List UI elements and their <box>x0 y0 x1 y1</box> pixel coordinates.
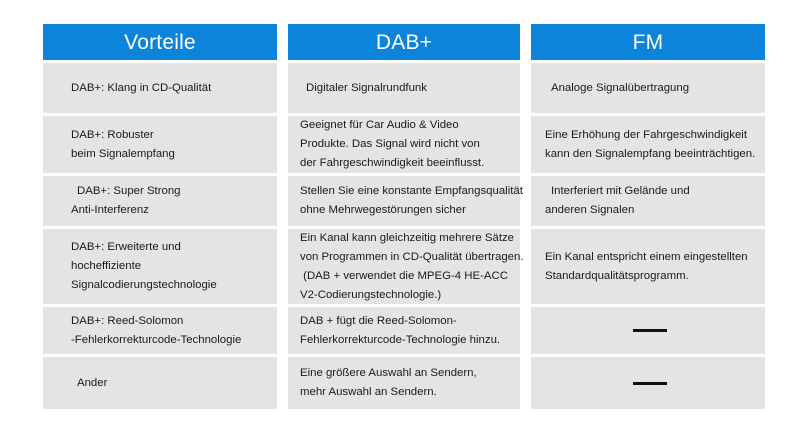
dash-placeholder-icon <box>633 382 667 385</box>
table-cell: Geeignet für Car Audio & Video Produkte.… <box>288 116 520 173</box>
cell-line: V2-Codierungstechnologie.) <box>300 286 510 305</box>
table-cell: DAB+: Klang in CD-Qualität <box>43 63 277 113</box>
cell-line: Analoge Signalübertragung <box>545 79 755 98</box>
cell-line: Ander <box>71 374 263 393</box>
cell-line: Eine größere Auswahl an Sendern, <box>300 364 510 383</box>
table-cell: DAB+: Robuster beim Signalempfang <box>43 116 277 173</box>
table-cell: DAB+: Erweiterte und hocheffiziente Sign… <box>43 229 277 304</box>
cell-line: (DAB + verwendet die MPEG-4 HE-ACC <box>300 267 510 286</box>
cell-line: DAB + fügt die Reed-Solomon- <box>300 312 510 331</box>
column-dab: DAB+ Digitaler Signalrundfunk Geeignet f… <box>288 24 520 364</box>
table-cell: Analoge Signalübertragung <box>531 63 765 113</box>
cell-line: Interferiert mit Gelände und <box>545 182 755 201</box>
column-header-advantages: Vorteile <box>43 24 277 60</box>
cell-line: Produkte. Das Signal wird nicht von <box>300 135 510 154</box>
table-cell: DAB+: Reed-Solomon -Fehlerkorrekturcode-… <box>43 307 277 354</box>
cell-line: beim Signalempfang <box>71 145 263 164</box>
column-header-dab: DAB+ <box>288 24 520 60</box>
table-cell: Eine größere Auswahl an Sendern, mehr Au… <box>288 357 520 409</box>
cell-line: Eine Erhöhung der Fahrgeschwindigkeit <box>545 126 755 145</box>
cell-line: Standardqualitätsprogramm. <box>545 267 755 286</box>
table-cell: Ander <box>43 357 277 409</box>
table-cell: Eine Erhöhung der Fahrgeschwindigkeit ka… <box>531 116 765 173</box>
cell-line: -Fehlerkorrekturcode-Technologie <box>71 331 263 350</box>
table-cell: DAB+: Super Strong Anti-Interferenz <box>43 176 277 226</box>
cell-line: Ein Kanal entspricht einem eingestellten <box>545 248 755 267</box>
cell-line: Anti-Interferenz <box>71 201 263 220</box>
table-cell-empty <box>531 307 765 354</box>
column-fm: FM Analoge Signalübertragung Eine Erhöhu… <box>531 24 765 364</box>
table-cell: Interferiert mit Gelände und anderen Sig… <box>531 176 765 226</box>
table-cell: DAB + fügt die Reed-Solomon- Fehlerkorre… <box>288 307 520 354</box>
cell-line: mehr Auswahl an Sendern. <box>300 383 510 402</box>
cell-line: von Programmen in CD-Qualität übertragen… <box>300 248 510 267</box>
cell-line: DAB+: Klang in CD-Qualität <box>71 79 263 98</box>
column-header-fm: FM <box>531 24 765 60</box>
cell-line: Signalcodierungstechnologie <box>71 276 263 295</box>
cell-line: Stellen Sie eine konstante Empfangsquali… <box>300 182 510 201</box>
table-cell: Ein Kanal kann gleichzeitig mehrere Sätz… <box>288 229 520 304</box>
cell-line: DAB+: Super Strong <box>71 182 263 201</box>
cell-line: anderen Signalen <box>545 201 755 220</box>
comparison-table: Vorteile DAB+: Klang in CD-Qualität DAB+… <box>43 24 765 364</box>
cell-line: DAB+: Erweiterte und <box>71 238 263 257</box>
table-cell-empty <box>531 357 765 409</box>
cell-line: Ein Kanal kann gleichzeitig mehrere Sätz… <box>300 229 510 248</box>
cell-line: DAB+: Reed-Solomon <box>71 312 263 331</box>
cell-line: Digitaler Signalrundfunk <box>300 79 510 98</box>
dash-placeholder-icon <box>633 329 667 332</box>
cell-line: DAB+: Robuster <box>71 126 263 145</box>
column-advantages: Vorteile DAB+: Klang in CD-Qualität DAB+… <box>43 24 277 364</box>
cell-line: kann den Signalempfang beeinträchtigen. <box>545 145 755 164</box>
cell-line: hocheffiziente <box>71 257 263 276</box>
table-cell: Ein Kanal entspricht einem eingestellten… <box>531 229 765 304</box>
table-cell: Stellen Sie eine konstante Empfangsquali… <box>288 176 520 226</box>
cell-line: Geeignet für Car Audio & Video <box>300 116 510 135</box>
cell-line: Fehlerkorrekturcode-Technologie hinzu. <box>300 331 510 350</box>
cell-line: der Fahrgeschwindigkeit beeinflusst. <box>300 154 510 173</box>
cell-line: ohne Mehrwegestörungen sicher <box>300 201 510 220</box>
table-cell: Digitaler Signalrundfunk <box>288 63 520 113</box>
